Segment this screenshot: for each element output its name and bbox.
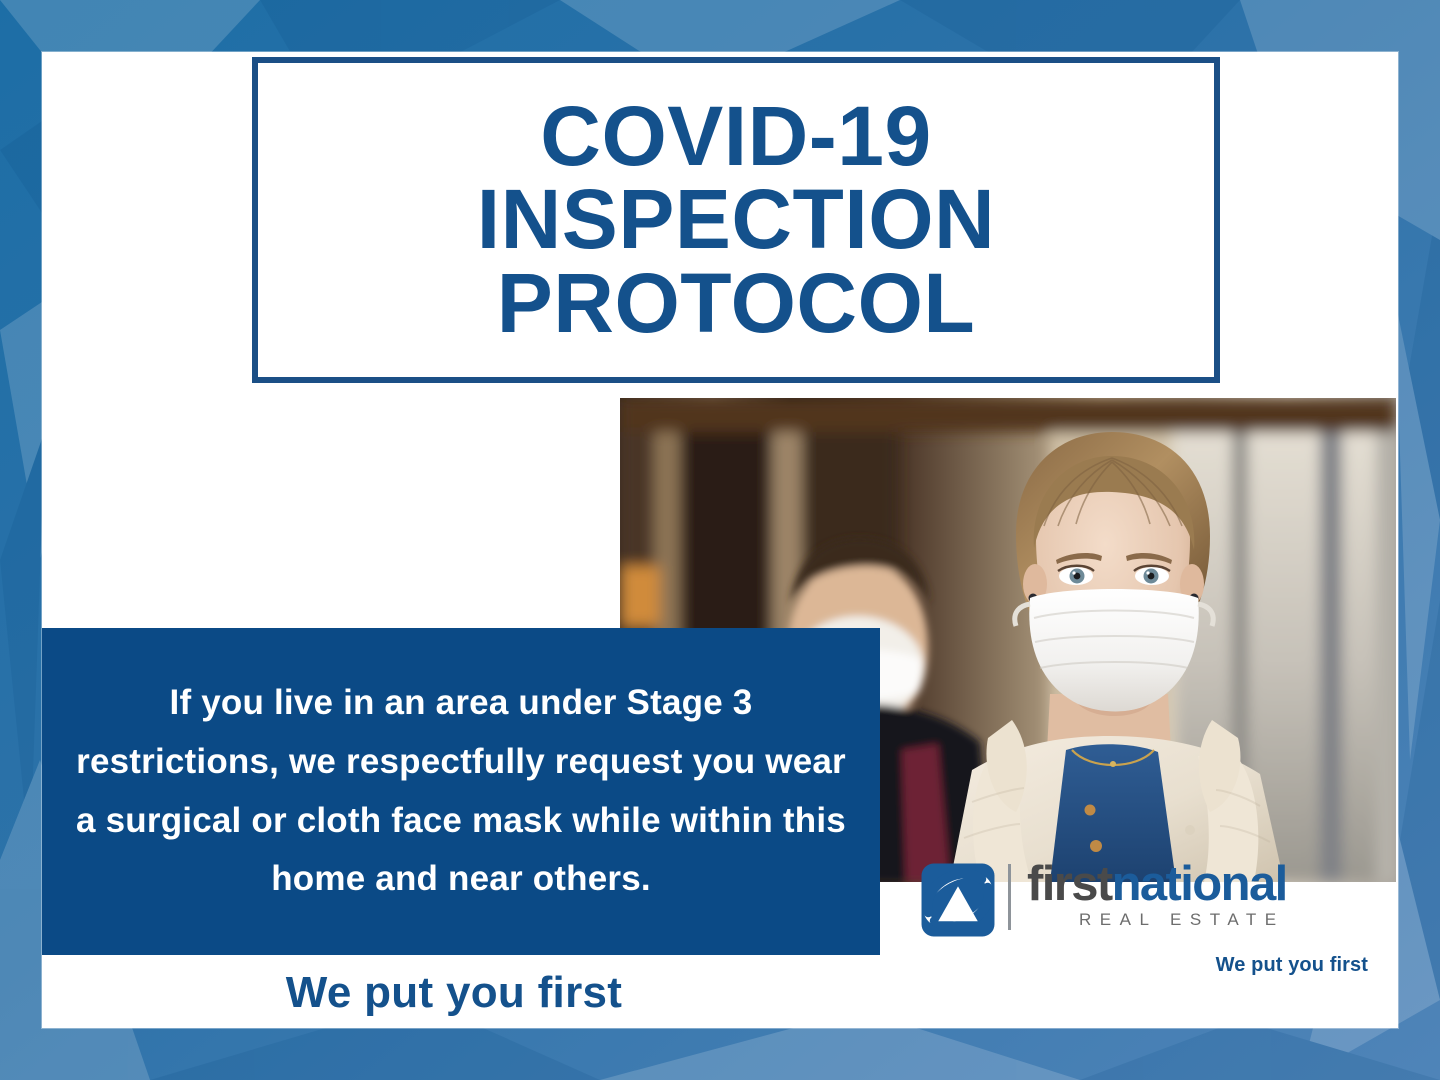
- logo-word-first: first: [1027, 857, 1112, 911]
- logo-divider: [1008, 864, 1011, 930]
- poster-card: COVID-19 INSPECTION PROTOCOL: [42, 52, 1398, 1028]
- logo-subtitle: REAL ESTATE: [1027, 910, 1287, 930]
- message-panel: If you live in an area under Stage 3 res…: [42, 628, 880, 955]
- poster-tagline: We put you first: [224, 968, 684, 1018]
- first-national-swirl-triangle-icon: [920, 862, 996, 938]
- page-title: COVID-19 INSPECTION PROTOCOL: [477, 95, 995, 344]
- title-box: COVID-19 INSPECTION PROTOCOL: [252, 57, 1220, 383]
- logo-wordmark: firstnational: [1027, 860, 1287, 909]
- covid-inspection-protocol-poster: COVID-19 INSPECTION PROTOCOL: [0, 0, 1440, 1080]
- logo-word-national: national: [1112, 857, 1287, 911]
- message-text: If you live in an area under Stage 3 res…: [76, 674, 846, 909]
- logo-tagline: We put you first: [920, 954, 1370, 977]
- first-national-logo: firstnational REAL ESTATE We put you fir…: [920, 860, 1370, 990]
